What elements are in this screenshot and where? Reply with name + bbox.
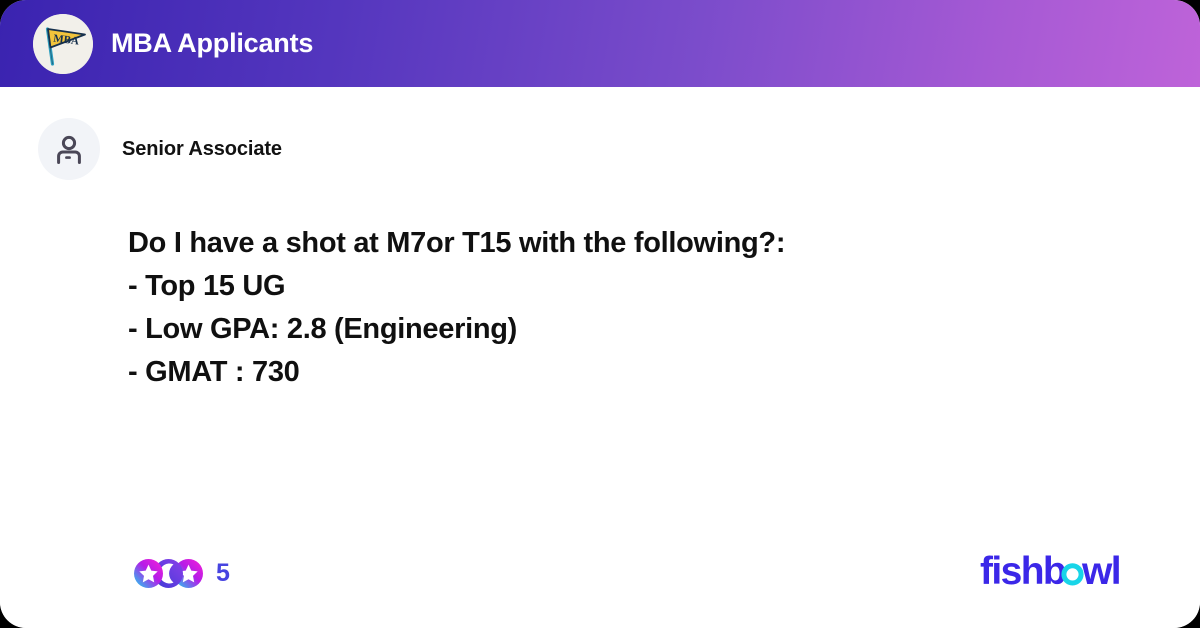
avatar: [38, 118, 100, 180]
card-body: Senior Associate Do I have a shot at M7o…: [0, 87, 1200, 628]
reaction-badge-stack[interactable]: [134, 559, 203, 588]
post-card: MBA MBA Applicants Senior Associate Do I…: [0, 0, 1200, 628]
author-row: Senior Associate: [0, 87, 1200, 180]
reaction-count: 5: [216, 559, 230, 588]
author-name: Senior Associate: [122, 138, 282, 161]
card-header: MBA MBA Applicants: [0, 0, 1200, 87]
svg-text:wl: wl: [1081, 551, 1120, 593]
post-text-line: Do I have a shot at M7or T15 with the fo…: [128, 222, 1088, 265]
star-reaction-icon[interactable]: [134, 559, 163, 588]
page-title: MBA Applicants: [111, 28, 313, 59]
person-icon: [52, 132, 86, 166]
svg-text:fishb: fishb: [980, 551, 1066, 593]
post-text: Do I have a shot at M7or T15 with the fo…: [128, 222, 1088, 394]
fishbowl-logo: fishb wl: [980, 551, 1128, 595]
post-text-line: - GMAT : 730: [128, 351, 1088, 394]
post-text-line: - Low GPA: 2.8 (Engineering): [128, 308, 1088, 351]
card-footer: 5 fishb wl: [0, 550, 1200, 596]
post-text-line: - Top 15 UG: [128, 265, 1088, 308]
mba-pennant-flag-icon: MBA: [33, 14, 93, 74]
reactions-group[interactable]: 5: [134, 559, 230, 588]
